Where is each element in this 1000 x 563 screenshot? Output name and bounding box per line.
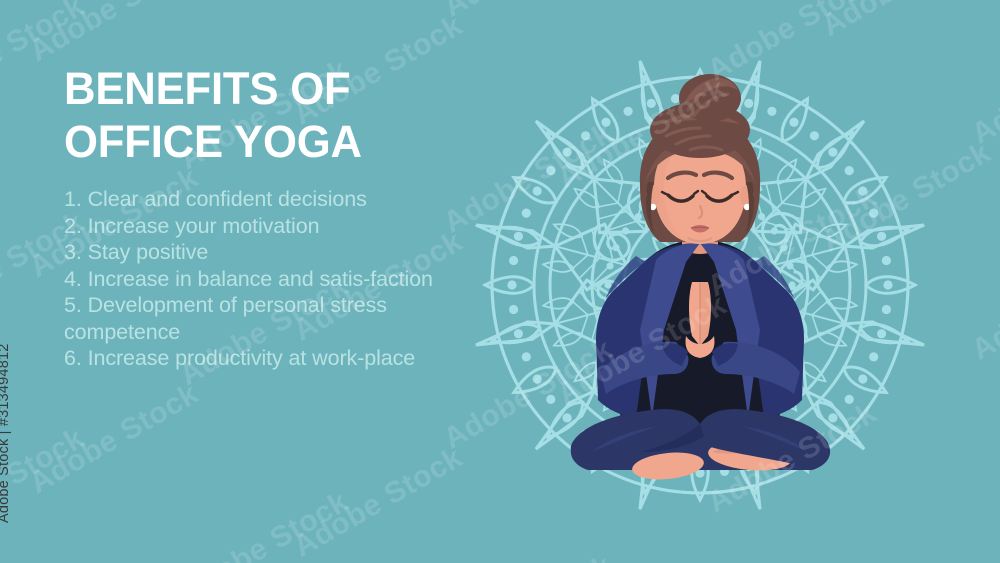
list-item: 4. Increase in balance and satis-faction <box>64 266 444 293</box>
list-item: 1. Clear and confident decisions <box>64 186 444 213</box>
list-item: 2. Increase your motivation <box>64 213 444 240</box>
title-line-2: OFFICE YOGA <box>64 115 433 168</box>
text-column: BENEFITS OF OFFICE YOGA 1. Clear and con… <box>64 62 444 372</box>
stock-id-label: Adobe Stock | #313494812 <box>0 344 12 524</box>
meditating-woman <box>571 74 830 483</box>
list-item: 3. Stay positive <box>64 239 444 266</box>
benefits-list: 1. Clear and confident decisions 2. Incr… <box>64 186 444 372</box>
page-title: BENEFITS OF OFFICE YOGA <box>64 62 433 168</box>
list-item: 5. Development of personal stress compet… <box>64 292 444 345</box>
list-item: 6. Increase productivity at work-place <box>64 345 444 372</box>
poster-canvas: Adobe StockAdobe StockAdobe StockAdobe S… <box>0 0 1000 563</box>
title-line-1: BENEFITS OF <box>64 62 433 115</box>
